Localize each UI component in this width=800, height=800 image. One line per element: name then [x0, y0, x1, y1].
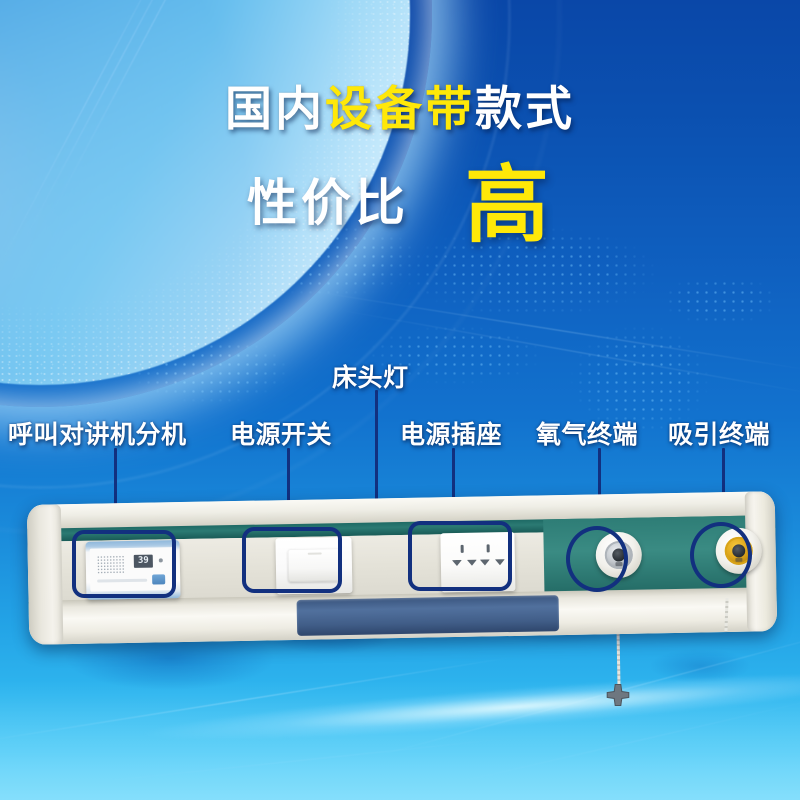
promo-banner: 国内设备带款式 性价比高 呼叫对讲机分机 电源开关 床头灯 电源插座 氧气终端 …: [0, 0, 800, 800]
highlight-suction: [690, 522, 752, 588]
callout-label-bedlamp: 床头灯: [332, 358, 409, 394]
highlight-switch: [242, 527, 342, 593]
highlight-intercom: [72, 530, 176, 598]
callout-label-switch: 电源开关: [230, 415, 332, 451]
callout-label-intercom: 呼叫对讲机分机: [8, 415, 187, 451]
callout-label-suction: 吸引终端: [668, 415, 770, 451]
callout-label-socket: 电源插座: [400, 415, 502, 451]
bedlamp-diffuser[interactable]: [297, 595, 560, 636]
panel-end-cap-left: [27, 504, 64, 645]
callout-label-oxygen: 氧气终端: [536, 415, 638, 451]
highlight-oxygen: [566, 526, 628, 592]
highlight-socket: [408, 521, 512, 591]
pull-cord-handle[interactable]: [605, 682, 631, 708]
callout-labels: 呼叫对讲机分机 电源开关 床头灯 电源插座 氧气终端 吸引终端: [0, 0, 800, 800]
